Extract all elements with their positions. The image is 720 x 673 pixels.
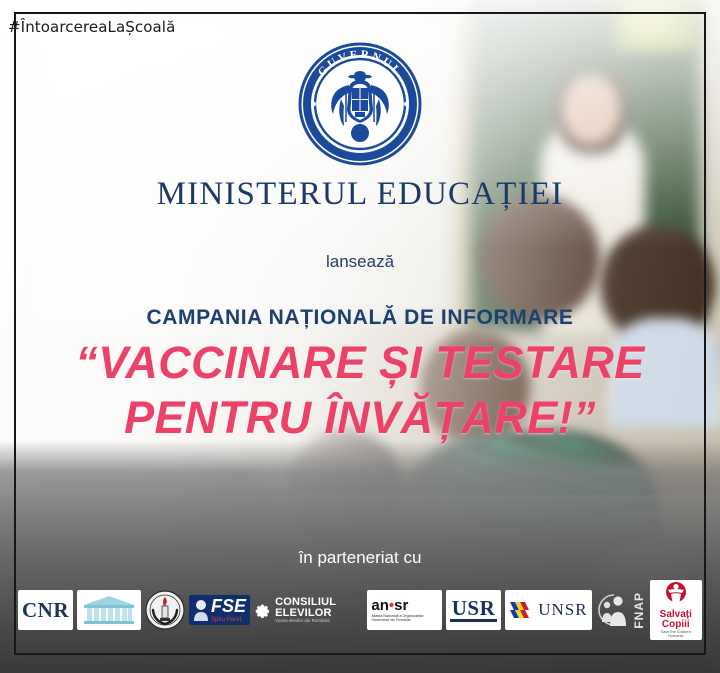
headline-line-1: “VACCINARE ȘI TESTARE: [0, 336, 720, 391]
gear-icon: [254, 599, 270, 621]
logo-unsr-text: UNSR: [538, 600, 587, 620]
logo-anosr-sub: Alianța Națională a Organizațiilor Stude…: [371, 614, 437, 623]
logo-fnap-text: FNAP: [632, 592, 646, 629]
logo-cnr: CNR: [18, 590, 73, 630]
ministry-title: MINISTERUL EDUCAȚIEI: [0, 176, 720, 213]
headline-line-2: PENTRU ÎNVĂȚARE!”: [0, 391, 720, 446]
logo-fse-spiru-haret: FSE Spiru Haret: [189, 590, 250, 630]
logo-usr: USR: [446, 590, 502, 630]
torch-seal-icon: [145, 590, 185, 630]
launch-verb: lansează: [0, 252, 720, 272]
poster: #ÎntoarcereaLaȘcoală GUVERNUL ROMÂNIEI: [0, 0, 720, 673]
logo-consiliul-text: CONSILIUL ELEVILOR: [275, 597, 363, 619]
tricolor-chevrons-icon: [509, 601, 535, 619]
book-figure-icon: [193, 599, 209, 621]
classical-building-icon: [81, 594, 137, 626]
logo-salvati-copiii: Salvați Copiii Save the Children Romania: [650, 590, 702, 630]
logo-cnr-text: CNR: [22, 598, 69, 623]
hashtag-label: #ÎntoarcereaLaȘcoală: [8, 18, 175, 36]
logo-fse-text: FSE: [211, 597, 246, 615]
logo-salvati-sub: Save the Children Romania: [654, 631, 698, 639]
logo-fnap: FNAP: [596, 590, 646, 630]
partner-label: în parteneriat cu: [0, 548, 720, 568]
logo-consiliul-sub: Vocea elevilor din România: [275, 619, 363, 624]
logo-aracis: [77, 590, 141, 630]
grey-wash-bottom-2: [0, 495, 720, 673]
partner-logo-strip: CNR: [18, 586, 702, 634]
logo-consiliul-elevilor: CONSILIUL ELEVILOR Vocea elevilor din Ro…: [254, 590, 363, 630]
logo-salvati-text: Salvați Copiii: [654, 610, 698, 630]
campaign-headline: “VACCINARE ȘI TESTARE PENTRU ÎNVĂȚARE!”: [0, 336, 720, 446]
guvernul-romaniei-seal-icon: GUVERNUL ROMÂNIEI: [294, 38, 426, 170]
campaign-label: CAMPANIA NAȚIONALĂ DE INFORMARE: [0, 306, 720, 330]
logo-anosr-text: an•sr Alianța Națională a Organizațiilor…: [371, 598, 437, 623]
logo-fse-sub: Spiru Haret: [211, 617, 246, 623]
parent-child-figure-icon: [596, 592, 630, 628]
save-the-children-icon: [659, 582, 693, 604]
logo-usr-text: USR: [450, 598, 498, 622]
logo-unsr: UNSR: [505, 590, 591, 630]
logo-fsli: [145, 590, 185, 630]
logo-anosr: an•sr Alianța Națională a Organizațiilor…: [367, 590, 441, 630]
